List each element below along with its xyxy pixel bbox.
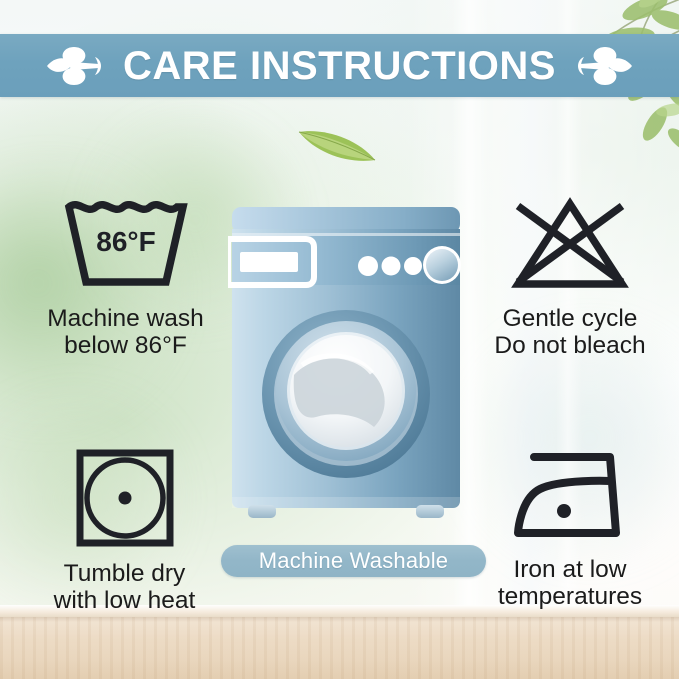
- drawer-handle: [240, 252, 298, 272]
- fleur-de-lis-left-icon: [43, 43, 105, 89]
- washing-machine-illustration: [228, 205, 464, 535]
- header-banner: CARE INSTRUCTIONS: [0, 34, 679, 97]
- program-dial: [426, 249, 458, 281]
- care-symbol-label-iron: Iron at low temperatures: [498, 556, 642, 611]
- wash-temperature-value: 86°F: [96, 226, 155, 257]
- machine-foot-left: [248, 505, 276, 518]
- care-symbol-machine-wash: 86°F Machine wash below 86°F: [18, 196, 233, 360]
- machine-washable-badge: Machine Washable: [221, 545, 486, 577]
- care-instructions-infographic: CARE INSTRUCTIONS 86°F: [0, 0, 679, 679]
- floating-leaf-icon: [295, 118, 387, 170]
- machine-foot-right: [416, 505, 444, 518]
- control-button-1: [358, 256, 378, 276]
- control-button-2: [382, 257, 401, 276]
- care-symbol-label-no-bleach: Gentle cycle Do not bleach: [494, 305, 645, 360]
- triangle-crossed-bleach-icon: [506, 196, 634, 297]
- table-surface: [0, 617, 679, 679]
- tumble-dry-one-dot-icon: [70, 447, 180, 552]
- care-symbol-label-tumble-dry: Tumble dry with low heat: [54, 560, 196, 615]
- care-symbol-no-bleach: Gentle cycle Do not bleach: [470, 196, 670, 360]
- care-symbol-iron-low: Iron at low temperatures: [470, 447, 670, 611]
- care-symbol-tumble-dry: Tumble dry with low heat: [22, 447, 227, 615]
- machine-washable-badge-label: Machine Washable: [259, 550, 448, 572]
- wash-tub-icon: 86°F: [62, 196, 190, 297]
- fleur-de-lis-right-icon: [574, 43, 636, 89]
- control-button-3: [404, 257, 422, 275]
- iron-one-dot-icon: [506, 447, 634, 548]
- page-title: CARE INSTRUCTIONS: [123, 46, 556, 86]
- care-symbol-label-machine-wash: Machine wash below 86°F: [47, 305, 204, 360]
